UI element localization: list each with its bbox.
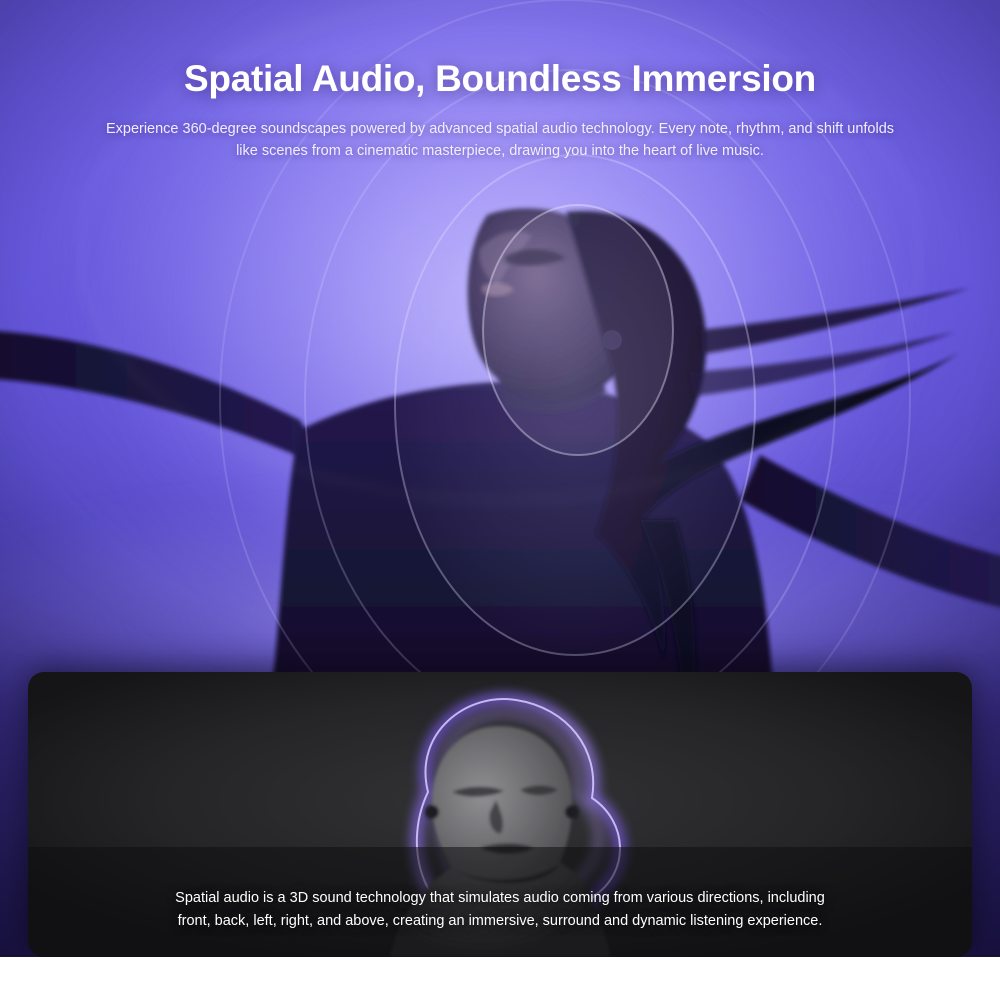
hero-subtitle-line-1: Experience 360-degree soundscapes powere… (106, 121, 784, 137)
page-bottom-margin (0, 957, 1000, 1000)
card-caption-line-1: Spatial audio is a 3D sound technology t… (28, 887, 972, 910)
spatial-audio-info-card: Spatial audio is a 3D sound technology t… (28, 672, 972, 957)
card-caption-line-2: front, back, left, right, and above, cre… (28, 910, 972, 933)
card-caption: Spatial audio is a 3D sound technology t… (28, 887, 972, 933)
spatial-audio-promo-page: Spatial Audio, Boundless Immersion Exper… (0, 0, 1000, 1000)
page-title: Spatial Audio, Boundless Immersion (0, 58, 1000, 100)
hero-subtitle: Experience 360-degree soundscapes powere… (95, 118, 905, 163)
hero-text-block: Spatial Audio, Boundless Immersion Exper… (0, 58, 1000, 163)
